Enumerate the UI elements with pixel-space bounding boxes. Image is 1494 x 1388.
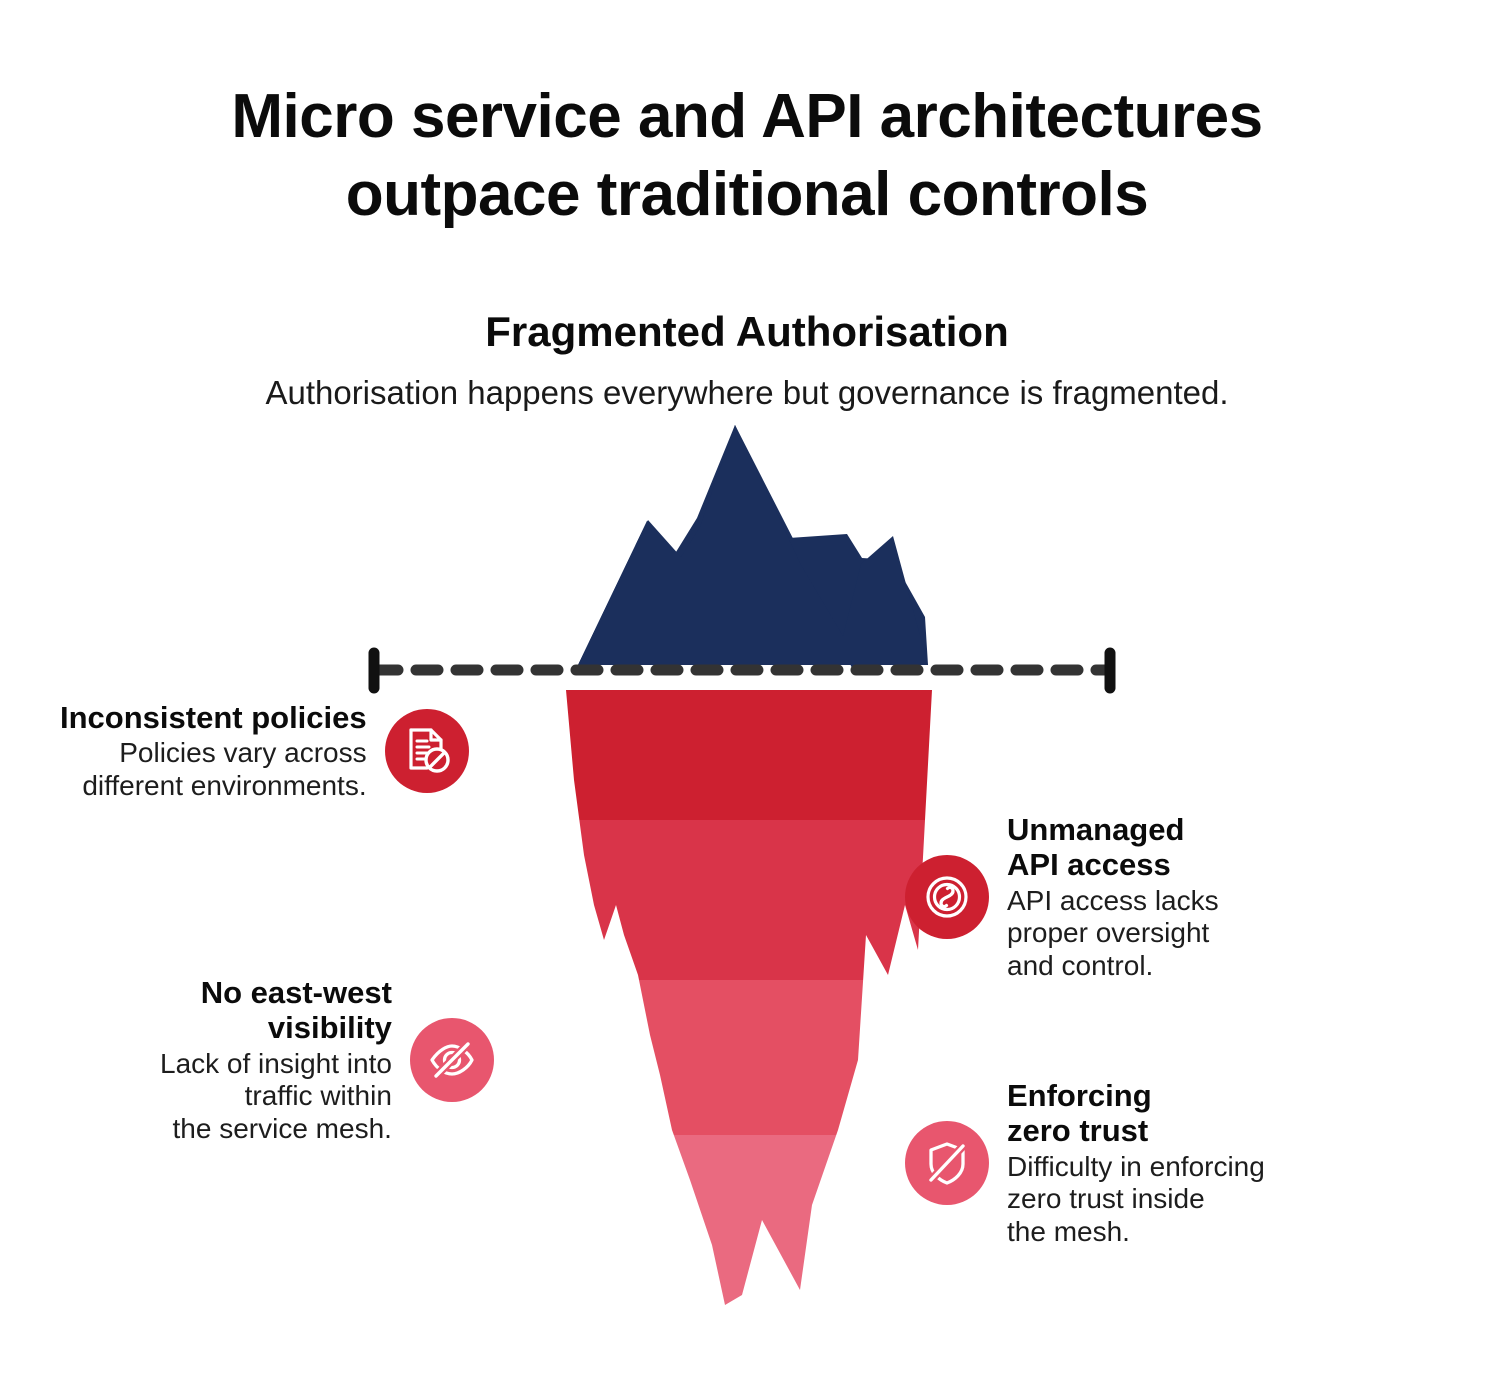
callout-text-block: No east-west visibility Lack of insight … bbox=[160, 975, 392, 1145]
callout-unmanaged-api-access[interactable]: Unmanaged API access API access lacks pr… bbox=[905, 812, 1219, 982]
document-blocked-glyph bbox=[401, 725, 453, 777]
document-blocked-icon bbox=[385, 709, 469, 793]
iceberg-band-1 bbox=[520, 680, 980, 820]
eye-slash-icon bbox=[410, 1018, 494, 1102]
api-circle-glyph bbox=[921, 871, 973, 923]
callout-title: Enforcing zero trust bbox=[1007, 1078, 1152, 1149]
callout-text-block: Unmanaged API access API access lacks pr… bbox=[1007, 812, 1219, 982]
callout-title: No east-west visibility bbox=[201, 975, 392, 1046]
callout-no-east-west-visibility[interactable]: No east-west visibility Lack of insight … bbox=[160, 975, 494, 1145]
eye-slash-glyph bbox=[426, 1034, 478, 1086]
callout-title: Inconsistent policies bbox=[60, 700, 367, 735]
shield-slash-icon bbox=[905, 1121, 989, 1205]
callout-description: Policies vary across different environme… bbox=[82, 737, 366, 802]
callout-inconsistent-policies[interactable]: Inconsistent policies Policies vary acro… bbox=[60, 700, 469, 802]
iceberg-svg bbox=[0, 0, 1494, 1388]
callout-enforcing-zero-trust[interactable]: Enforcing zero trust Difficulty in enfor… bbox=[905, 1078, 1265, 1248]
callout-description: Difficulty in enforcing zero trust insid… bbox=[1007, 1151, 1265, 1248]
callout-description: Lack of insight into traffic within the … bbox=[160, 1048, 392, 1145]
callout-description: API access lacks proper oversight and co… bbox=[1007, 885, 1219, 982]
callout-text-block: Enforcing zero trust Difficulty in enfor… bbox=[1007, 1078, 1265, 1248]
callout-title: Unmanaged API access bbox=[1007, 812, 1184, 883]
callout-text-block: Inconsistent policies Policies vary acro… bbox=[60, 700, 367, 802]
iceberg-graphic bbox=[0, 0, 1494, 1388]
shield-slash-glyph bbox=[921, 1137, 973, 1189]
api-circle-icon bbox=[905, 855, 989, 939]
